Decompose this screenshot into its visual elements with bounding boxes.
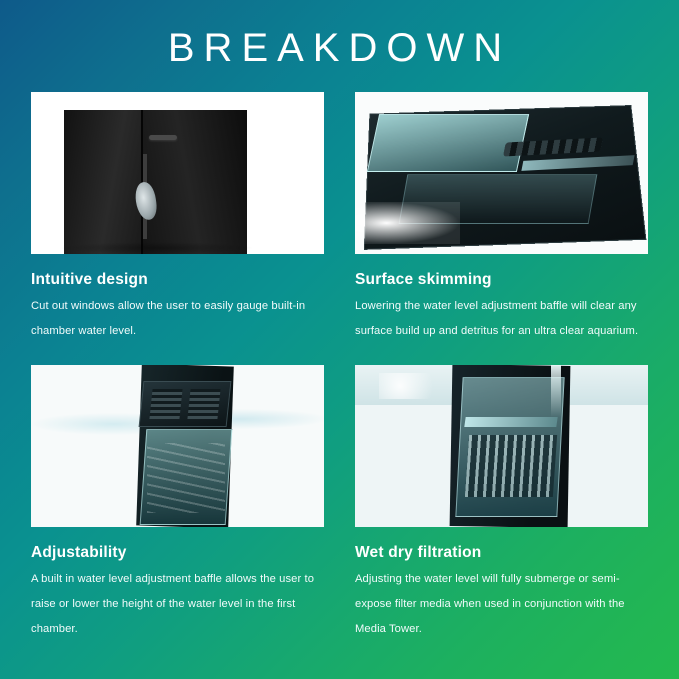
feature-title-adjustability: Adjustability: [31, 544, 324, 562]
feature-image-surface-skimming: [355, 92, 648, 254]
feature-image-adjustability: [31, 365, 324, 527]
glass-panel-shape: [367, 114, 529, 172]
baffle-lines-shape: [147, 443, 225, 513]
adjustment-baffle-shape: [464, 417, 557, 427]
filter-media-shape: [465, 435, 557, 497]
feature-title-wet-dry-filtration: Wet dry filtration: [355, 544, 648, 562]
feature-image-intuitive-design: [31, 92, 324, 254]
water-splash-right-shape: [217, 409, 324, 429]
bubbles-shape: [379, 373, 449, 399]
feature-image-wet-dry-filtration: [355, 365, 648, 527]
cabinet-left-panel-shape: [64, 110, 142, 254]
feature-card-intuitive-design: Intuitive design Cut out windows allow t…: [31, 92, 324, 344]
feature-body-intuitive-design: Cut out windows allow the user to easily…: [31, 294, 324, 344]
page-title: BREAKDOWN: [0, 18, 679, 78]
feature-grid: Intuitive design Cut out windows allow t…: [31, 92, 648, 642]
feature-title-intuitive-design: Intuitive design: [31, 271, 324, 289]
feature-title-surface-skimming: Surface skimming: [355, 271, 648, 289]
cabinet-handle-shape: [149, 135, 177, 140]
feature-card-adjustability: Adjustability A built in water level adj…: [31, 365, 324, 642]
feature-body-surface-skimming: Lowering the water level adjustment baff…: [355, 294, 648, 344]
feature-row-2: Adjustability A built in water level adj…: [31, 365, 648, 642]
infographic-page: BREAKDOWN Intuitive design Cut out windo…: [0, 0, 679, 679]
media-mesh-left-shape: [149, 389, 182, 419]
cabinet-right-panel-shape: [142, 110, 247, 254]
media-mesh-right-shape: [187, 389, 220, 419]
feature-body-wet-dry-filtration: Adjusting the water level will fully sub…: [355, 567, 648, 642]
water-foam-shape: [355, 202, 460, 244]
feature-card-wet-dry-filtration: Wet dry filtration Adjusting the water l…: [355, 365, 648, 642]
cabinet-shadow-shape: [59, 242, 254, 254]
water-splash-left-shape: [31, 413, 149, 435]
feature-row-1: Intuitive design Cut out windows allow t…: [31, 92, 648, 344]
feature-card-surface-skimming: Surface skimming Lowering the water leve…: [355, 92, 648, 344]
feature-body-adjustability: A built in water level adjustment baffle…: [31, 567, 324, 642]
water-drip-shape: [551, 365, 561, 417]
